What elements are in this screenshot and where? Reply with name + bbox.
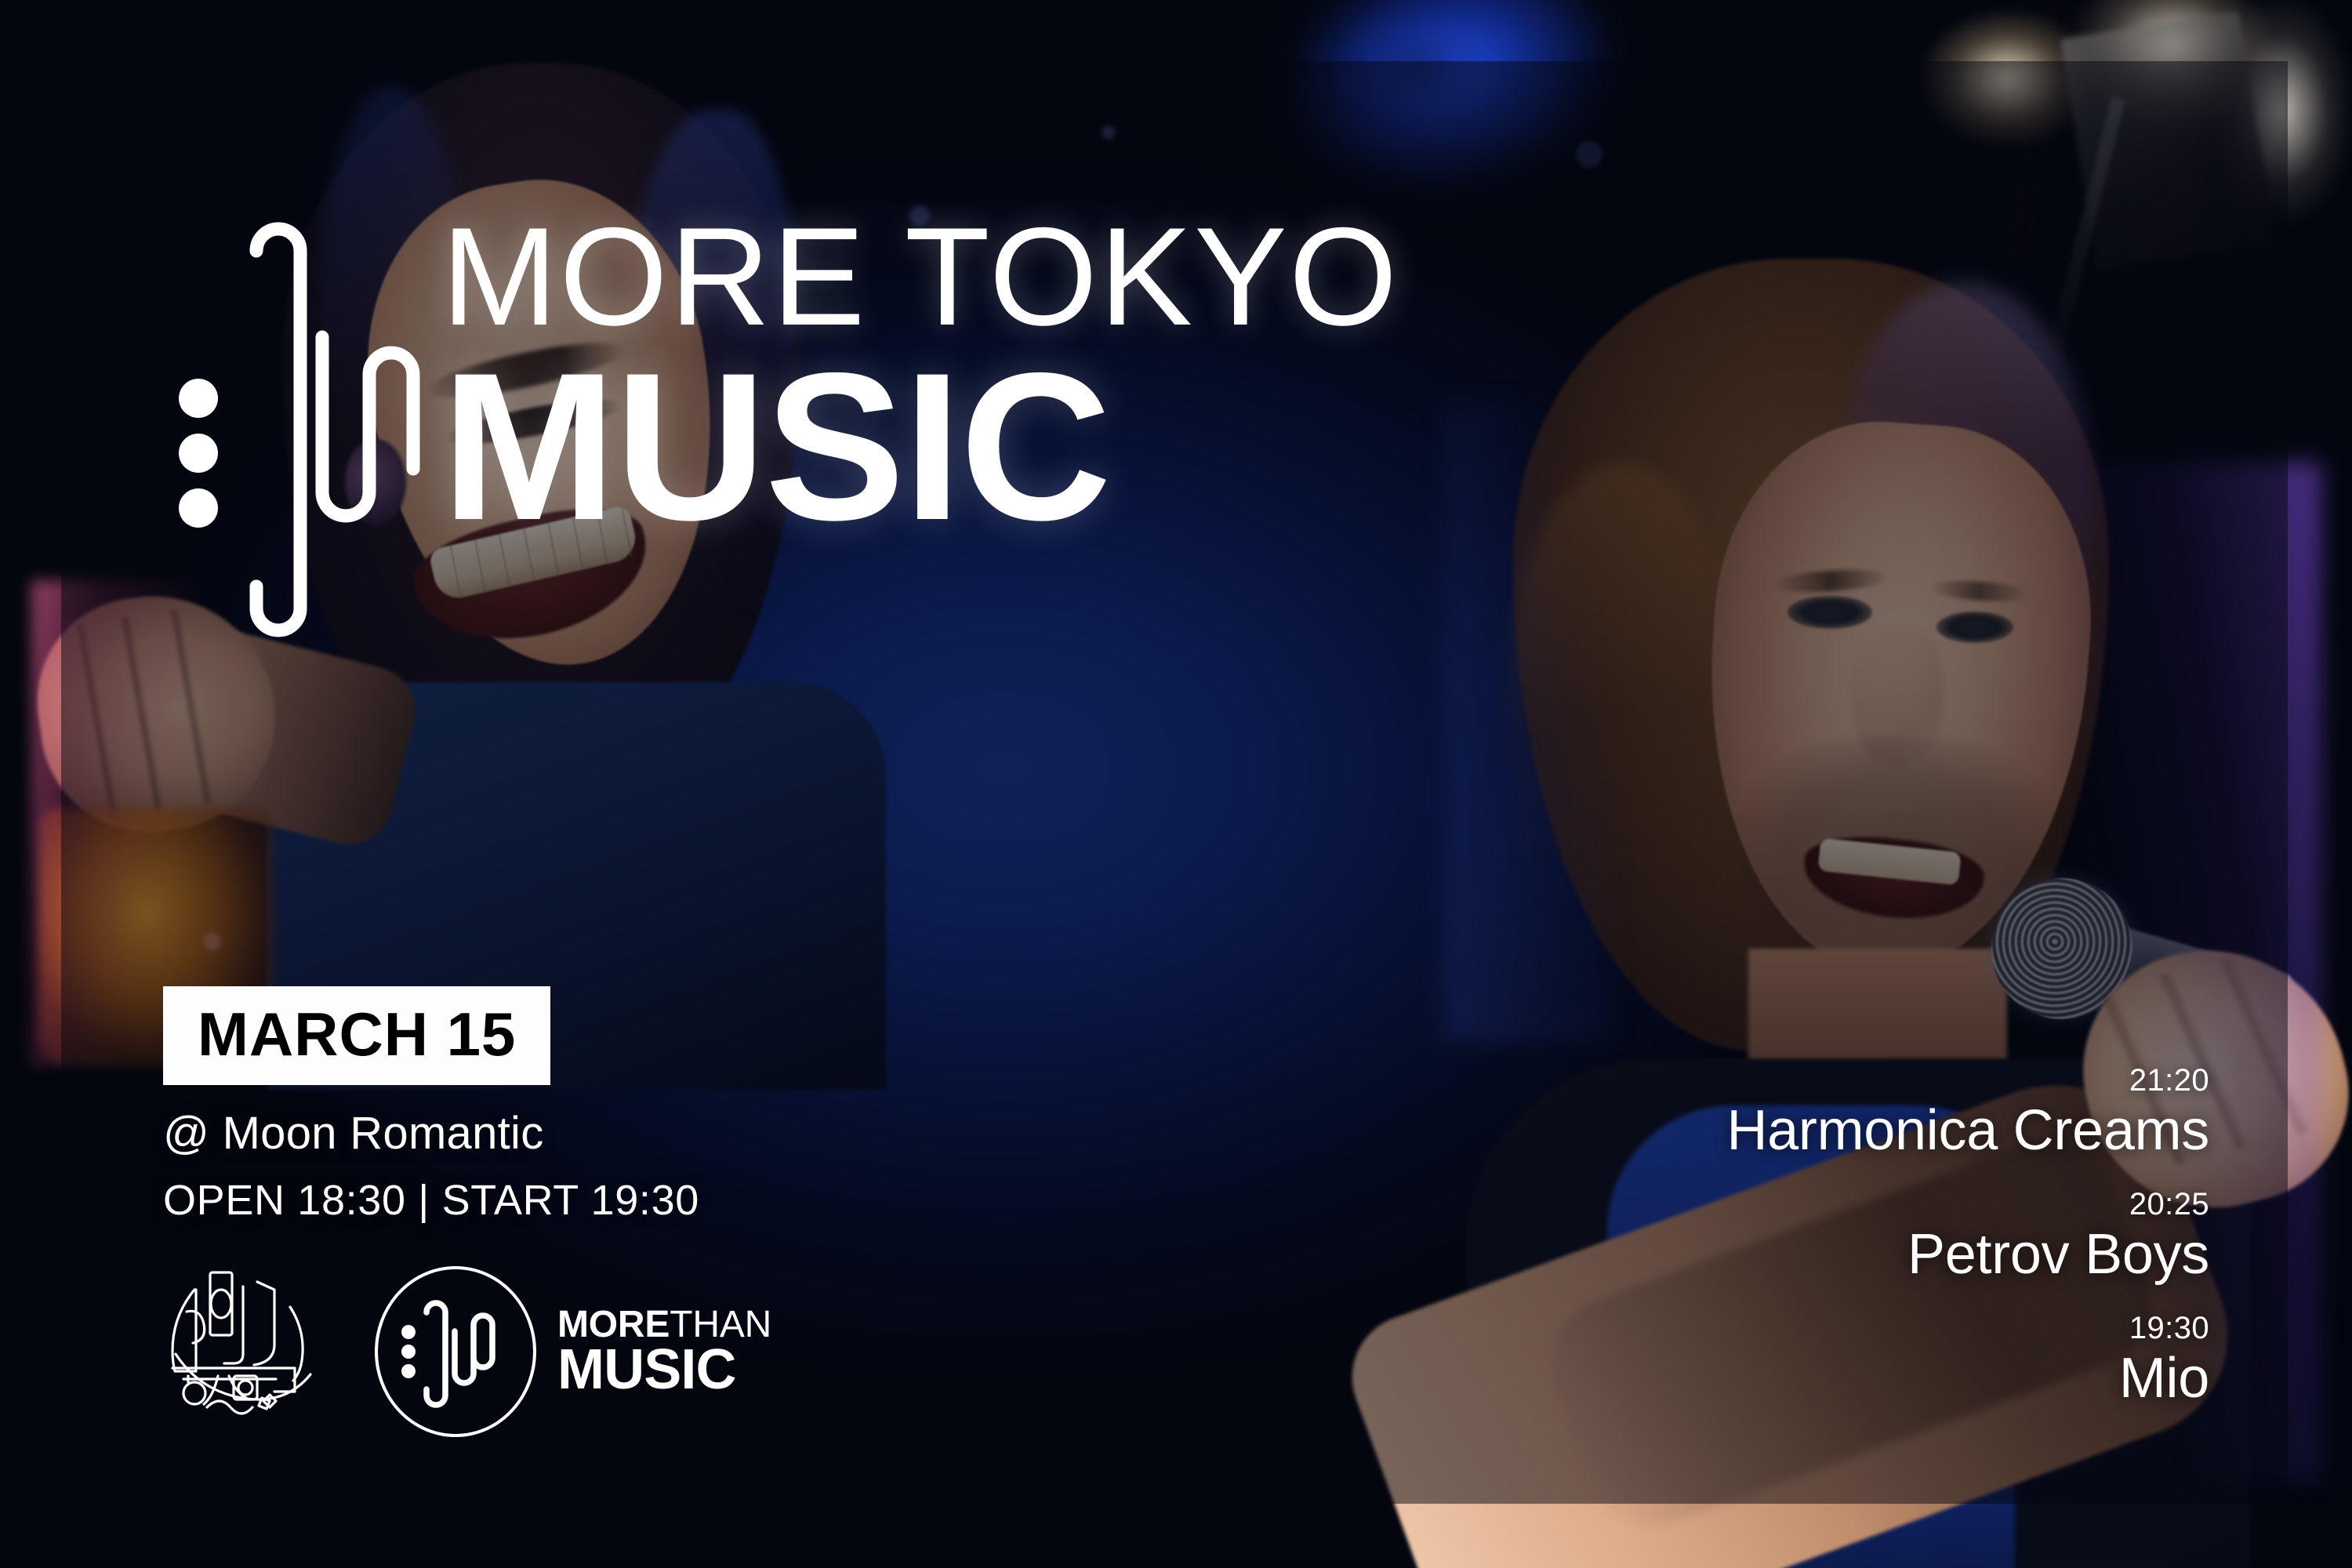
- act-time: 20:25: [1726, 1186, 2209, 1222]
- venue-name: @ Moon Romantic: [163, 1107, 544, 1160]
- poster-content: MORE TOKYO MUSIC MARCH 15 @ Moon Romanti…: [0, 0, 2352, 1568]
- title-block: MORE TOKYO MUSIC: [441, 207, 1399, 543]
- wordmark-line-one: MORETHAN: [557, 1306, 771, 1343]
- more-than-music-wordmark: MORETHAN MUSIC: [557, 1306, 771, 1397]
- title-more-tokyo: MORE TOKYO: [441, 207, 1399, 347]
- act-time: 21:20: [1726, 1062, 2209, 1098]
- lineup-act: 19:30 Mio: [1726, 1310, 2209, 1410]
- lineup-list: 21:20 Harmonica Creams 20:25 Petrov Boys…: [1726, 1062, 2209, 1417]
- wordmark-music: MUSIC: [557, 1343, 771, 1397]
- more-than-music-circle-logo-icon: [372, 1264, 540, 1440]
- date-badge: MARCH 15: [163, 986, 550, 1085]
- more-than-music-lockup: MORETHAN MUSIC: [372, 1264, 771, 1440]
- footer-logo-row: MORETHAN MUSIC: [157, 1264, 771, 1440]
- event-poster: MORE TOKYO MUSIC MARCH 15 @ Moon Romanti…: [0, 0, 2352, 1568]
- lineup-act: 21:20 Harmonica Creams: [1726, 1062, 2209, 1163]
- sound-wave-mark-icon: [169, 218, 427, 673]
- moon-romantic-circle-logo-icon: [157, 1266, 329, 1439]
- act-name: Petrov Boys: [1726, 1222, 2209, 1287]
- lineup-act: 20:25 Petrov Boys: [1726, 1186, 2209, 1287]
- act-time: 19:30: [1726, 1310, 2209, 1346]
- main-logo-lockup: MORE TOKYO MUSIC: [169, 227, 1399, 673]
- open-start-times: OPEN 18:30 | START 19:30: [163, 1176, 699, 1225]
- date-text: MARCH 15: [198, 1004, 516, 1065]
- act-name: Mio: [1726, 1346, 2209, 1410]
- act-name: Harmonica Creams: [1726, 1098, 2209, 1163]
- title-music: MUSIC: [441, 350, 1399, 543]
